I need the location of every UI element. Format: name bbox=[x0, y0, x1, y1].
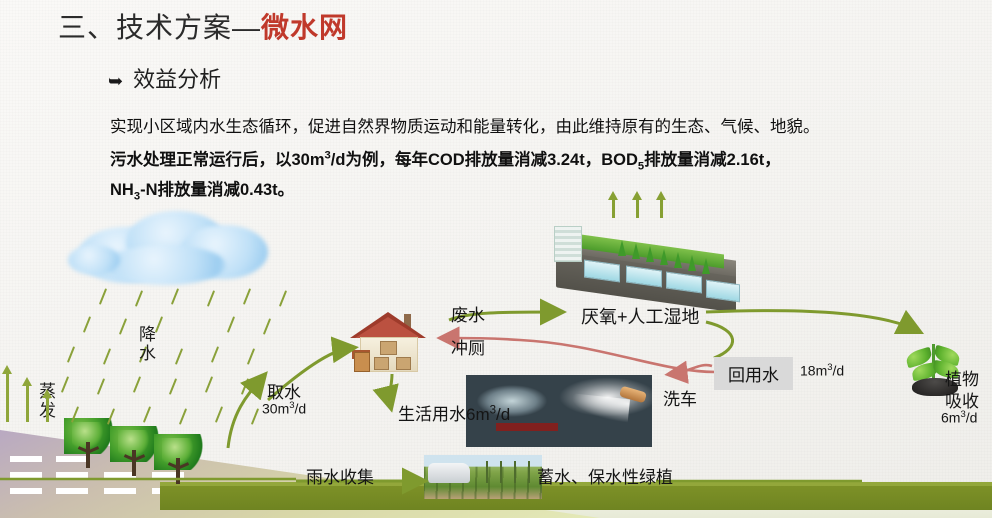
paragraph-2-part-b: /d为例，每年COD排放量消减3.24t，BOD bbox=[331, 151, 638, 169]
plant-uptake-arrow bbox=[706, 311, 916, 330]
reuse-value-a: 18m bbox=[800, 363, 827, 379]
paragraph-2-part-c: 排放量消减2.16t， bbox=[644, 151, 781, 169]
grass-strip bbox=[160, 486, 992, 510]
house-icon bbox=[352, 312, 424, 374]
treatment-label: 厌氧+人工湿地 bbox=[581, 303, 700, 329]
evaporation-arrow-icon bbox=[26, 384, 29, 422]
green-planting-label: 蓄水、保水性绿植 bbox=[537, 463, 673, 488]
wastewater-label: 废水 bbox=[451, 301, 485, 326]
slide-canvas: 三、技术方案—微水网 ➥效益分析 实现小区域内水生态循环，促进自然界物质运动和能… bbox=[0, 0, 992, 518]
evaporation-arrow-icon bbox=[46, 396, 49, 422]
bullet-arrow-icon: ➥ bbox=[108, 71, 123, 91]
intake-value-a: 30m bbox=[262, 401, 289, 417]
section-bullet: ➥效益分析 bbox=[108, 62, 221, 94]
plant-value: 6m3/d bbox=[941, 409, 977, 426]
domestic-water-arrow bbox=[389, 374, 392, 404]
paragraph-2: 污水处理正常运行后，以30m3/d为例，每年COD排放量消减3.24t，BOD5… bbox=[110, 146, 781, 172]
paragraph-3: NH3-N排放量消减0.43t。 bbox=[110, 176, 294, 202]
plant-value-b: /d bbox=[966, 410, 978, 426]
domestic-water-a: 生活用水6m bbox=[398, 405, 490, 424]
reuse-water-box: 回用水 bbox=[714, 357, 793, 390]
paragraph-3-part-b: -N排放量消减0.43t。 bbox=[140, 181, 294, 199]
reuse-feed-line bbox=[706, 322, 733, 358]
page-title: 三、技术方案—微水网 bbox=[58, 6, 348, 46]
section-bullet-label: 效益分析 bbox=[133, 67, 221, 92]
paragraph-2-part-a: 污水处理正常运行后，以30m bbox=[110, 151, 325, 169]
intake-value: 30m3/d bbox=[262, 400, 306, 417]
paragraph-1: 实现小区域内水生态循环，促进自然界物质运动和能量转化，由此维持原有的生态、气候、… bbox=[110, 113, 820, 137]
reuse-water-value: 18m3/d bbox=[800, 362, 844, 379]
reuse-water-label: 回用水 bbox=[728, 366, 779, 385]
page-title-prefix: 三、技术方案— bbox=[58, 12, 261, 43]
rainwater-collect-label: 雨水收集 bbox=[306, 463, 374, 488]
tree-icon bbox=[152, 434, 206, 486]
cloud-icon bbox=[68, 205, 278, 293]
paragraph-3-part-a: NH bbox=[110, 181, 134, 199]
evaporation-arrow-icon bbox=[6, 372, 9, 422]
plant-value-a: 6m bbox=[941, 410, 960, 426]
intake-value-b: /d bbox=[295, 401, 307, 417]
precipitation-label: 降水 bbox=[133, 325, 158, 363]
green-planting-photo bbox=[424, 455, 542, 499]
constructed-wetland-illustration bbox=[548, 218, 748, 308]
page-title-accent: 微水网 bbox=[261, 12, 348, 43]
domestic-water-b: /d bbox=[496, 405, 510, 424]
toilet-flush-label: 冲厕 bbox=[451, 334, 485, 359]
reuse-value-b: /d bbox=[833, 363, 845, 379]
domestic-water-label: 生活用水6m3/d bbox=[398, 400, 510, 425]
carwash-arrow bbox=[672, 365, 712, 374]
carwash-label: 洗车 bbox=[663, 385, 697, 410]
